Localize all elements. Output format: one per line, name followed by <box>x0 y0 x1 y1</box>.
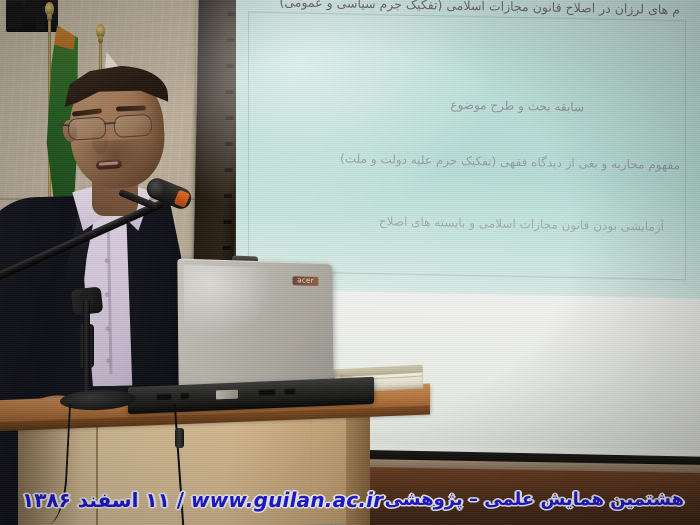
speaker-mouth <box>96 159 123 170</box>
microphone-grille <box>145 177 168 200</box>
cable-ferrite-bead <box>175 428 184 448</box>
microphone-color-band <box>174 190 191 208</box>
laptop-lid[interactable]: acer <box>177 259 333 396</box>
slide-content-frame <box>248 12 686 281</box>
watermark-right: هشتمین همایش علمی – پژوهشی <box>385 489 684 510</box>
glasses-temple <box>58 124 70 127</box>
acer-logo: acer <box>292 276 318 286</box>
photo-canvas: م های لرزان در اصلاح قانون مجازات اسلامی… <box>0 0 700 525</box>
watermark-left: www.guilan.ac.ir / ۱۱ اسفند ۱۳۸۶ <box>22 488 383 512</box>
glasses-lens-right <box>113 114 152 138</box>
watermark-separator: / <box>170 488 191 512</box>
speaker-eyebrow-right <box>116 105 146 111</box>
slide-bullet-1: سابقه بحث و طرح موضوع <box>450 98 584 115</box>
laptop-lid-sheen <box>183 265 274 338</box>
watermark-date: ۱۱ اسفند ۱۳۸۶ <box>22 488 170 512</box>
projected-slide: م های لرزان در اصلاح قانون مجازات اسلامی… <box>236 0 700 299</box>
watermark-url: www.guilan.ac.ir <box>191 488 383 512</box>
